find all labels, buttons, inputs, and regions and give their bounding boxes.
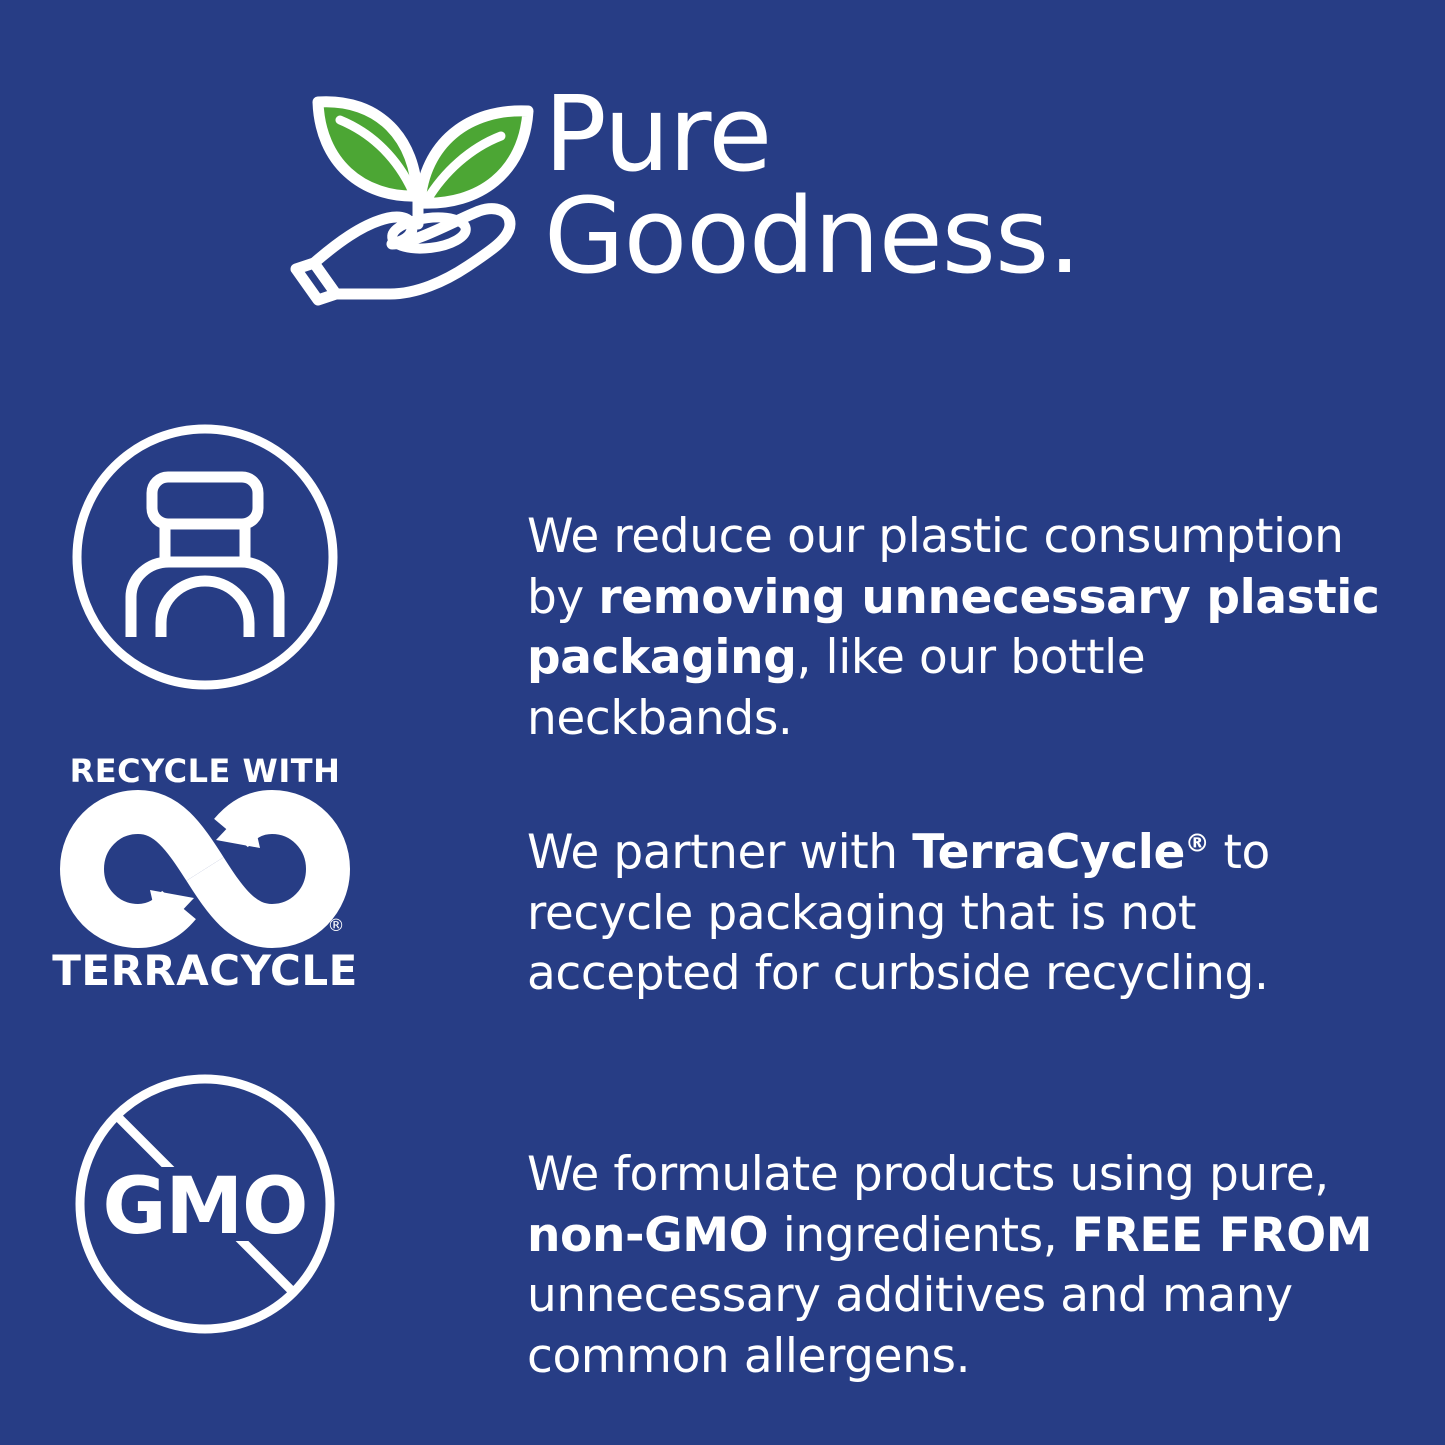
text-run-bold: non-GMO — [527, 1208, 768, 1263]
hand-holding-plant-icon — [296, 78, 532, 302]
text-run-bold: TerraCycle — [912, 825, 1185, 880]
text-run: unnecessary additives and many common al… — [527, 1268, 1293, 1384]
plastic-free-bottle-icon — [69, 421, 341, 693]
feature-text-gmo: We formulate products using pure, non-GM… — [410, 1117, 1445, 1388]
feature-row-plastic: We reduce our plastic consumption by rem… — [0, 412, 1445, 702]
text-run: We partner with — [527, 825, 912, 880]
no-gmo-icon: GMO — [71, 1070, 339, 1338]
text-run: ingredients, — [768, 1208, 1072, 1263]
feature-text-plastic: We reduce our plastic consumption by rem… — [410, 459, 1445, 750]
registered-mark: ® — [328, 916, 345, 936]
gmo-icon-label: GMO — [103, 1162, 308, 1252]
feature-row-gmo: GMO We formulate products using pure, no… — [0, 1070, 1445, 1355]
terracycle-logo: RECYCLE WITH ® TERRAC — [63, 752, 348, 995]
page-title: Pure Goodness. — [544, 70, 1080, 288]
terracycle-wordmark: TERRACYCLE — [52, 946, 358, 995]
icon-slot-plastic — [0, 412, 410, 702]
pure-goodness-infographic: Pure Goodness. We reduce our plastic con… — [0, 0, 1445, 1445]
feature-text-terracycle: We partner with TerraCycle® to recycle p… — [410, 795, 1445, 1005]
icon-slot-terracycle: RECYCLE WITH ® TERRAC — [0, 748, 410, 1003]
icon-slot-gmo: GMO — [0, 1070, 410, 1355]
text-run-bold: FREE FROM — [1072, 1208, 1372, 1263]
registered-mark: ® — [1185, 828, 1209, 857]
infinity-recycle-arrows-icon: ® — [64, 794, 346, 944]
text-run: We formulate products using pure, — [527, 1147, 1329, 1202]
brand-header: Pure Goodness. — [296, 70, 1356, 320]
recycle-with-label: RECYCLE WITH — [70, 752, 341, 790]
feature-row-terracycle: RECYCLE WITH ® TERRAC — [0, 748, 1445, 1003]
